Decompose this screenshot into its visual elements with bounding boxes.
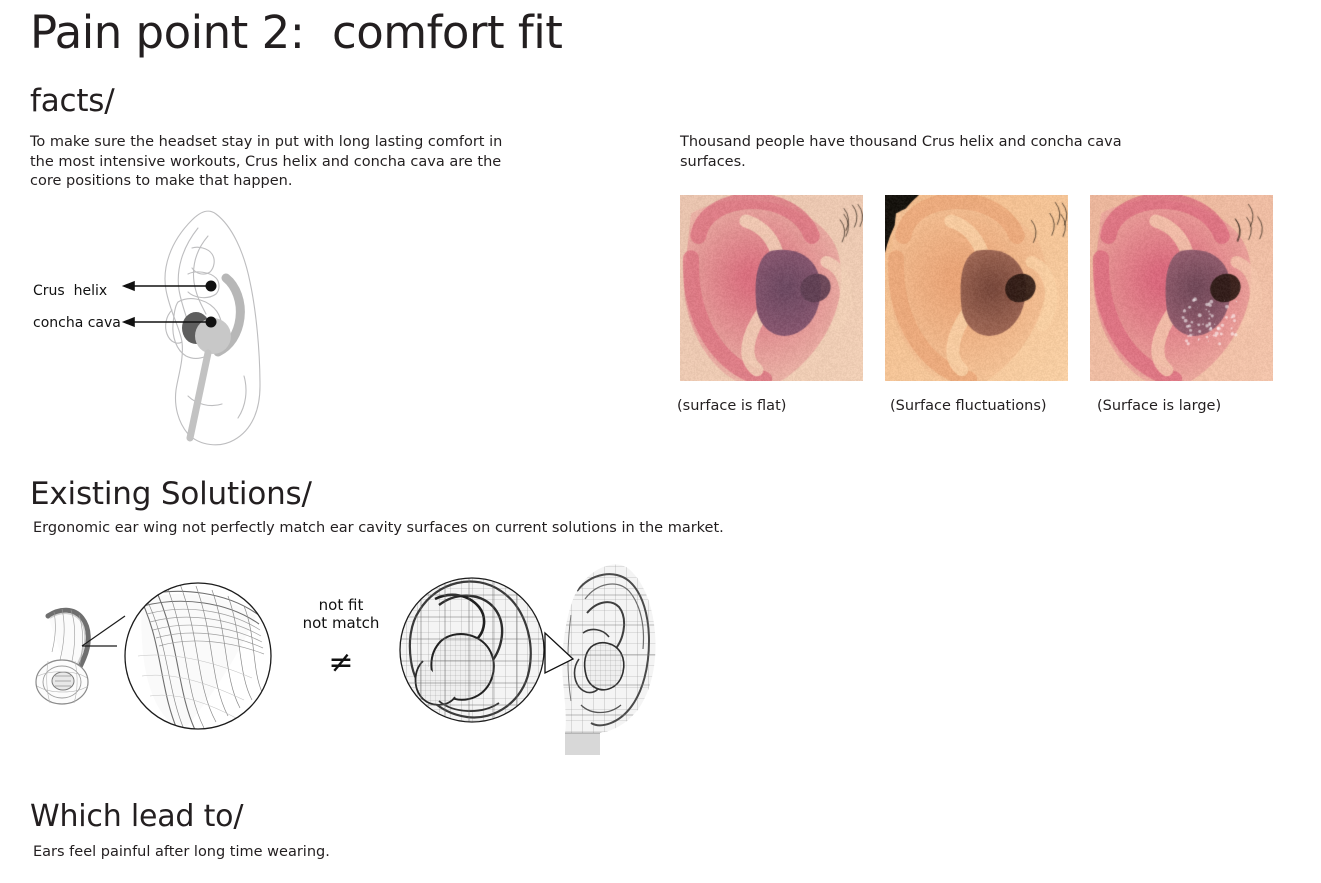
ear-photo-3 bbox=[1090, 195, 1273, 381]
earbud-small-wireframe-icon bbox=[36, 609, 88, 704]
ear-mesh-3d-icon bbox=[555, 555, 675, 767]
crus-helix-dot-icon bbox=[206, 281, 217, 292]
ear-photo-1-caption: (surface is flat) bbox=[677, 398, 786, 414]
earbud-wireframe-svg bbox=[30, 560, 320, 760]
concha-cava-dot-icon bbox=[206, 317, 217, 328]
page-title: Pain point 2: comfort fit bbox=[30, 8, 562, 58]
label-crus-helix: Crus helix bbox=[33, 283, 107, 299]
ear-photo-1 bbox=[680, 195, 863, 381]
ear-mesh-diagram bbox=[395, 555, 685, 767]
ear-photo-3-canvas bbox=[1090, 195, 1273, 381]
label-concha-cava: concha cava bbox=[33, 315, 121, 331]
magnified-ear-cavity-icon bbox=[397, 575, 549, 727]
earbud-wireframe-diagram bbox=[30, 560, 320, 760]
ear-photo-2 bbox=[885, 195, 1068, 381]
ear-photo-2-canvas bbox=[885, 195, 1068, 381]
facts-heading: facts/ bbox=[30, 84, 115, 118]
ear-photo-1-canvas bbox=[680, 195, 863, 381]
facts-right-paragraph: Thousand people have thousand Crus helix… bbox=[680, 133, 1190, 172]
compare-line-1: not fit bbox=[288, 596, 394, 614]
ear-photo-2-caption: (Surface fluctuations) bbox=[890, 398, 1047, 414]
not-equal-symbol-icon: ≠ bbox=[288, 648, 394, 678]
which-lead-to-paragraph: Ears feel painful after long time wearin… bbox=[33, 843, 633, 863]
facts-left-paragraph: To make sure the headset stay in put wit… bbox=[30, 133, 510, 192]
earbud-cable-icon bbox=[190, 353, 208, 438]
ear-mesh-svg bbox=[395, 555, 685, 767]
ear-photo-3-caption: (Surface is large) bbox=[1097, 398, 1221, 414]
existing-solutions-heading: Existing Solutions/ bbox=[30, 477, 312, 511]
existing-solutions-paragraph: Ergonomic ear wing not perfectly match e… bbox=[33, 519, 763, 539]
compare-line-2: not match bbox=[288, 614, 394, 632]
which-lead-to-heading: Which lead to/ bbox=[30, 800, 243, 833]
